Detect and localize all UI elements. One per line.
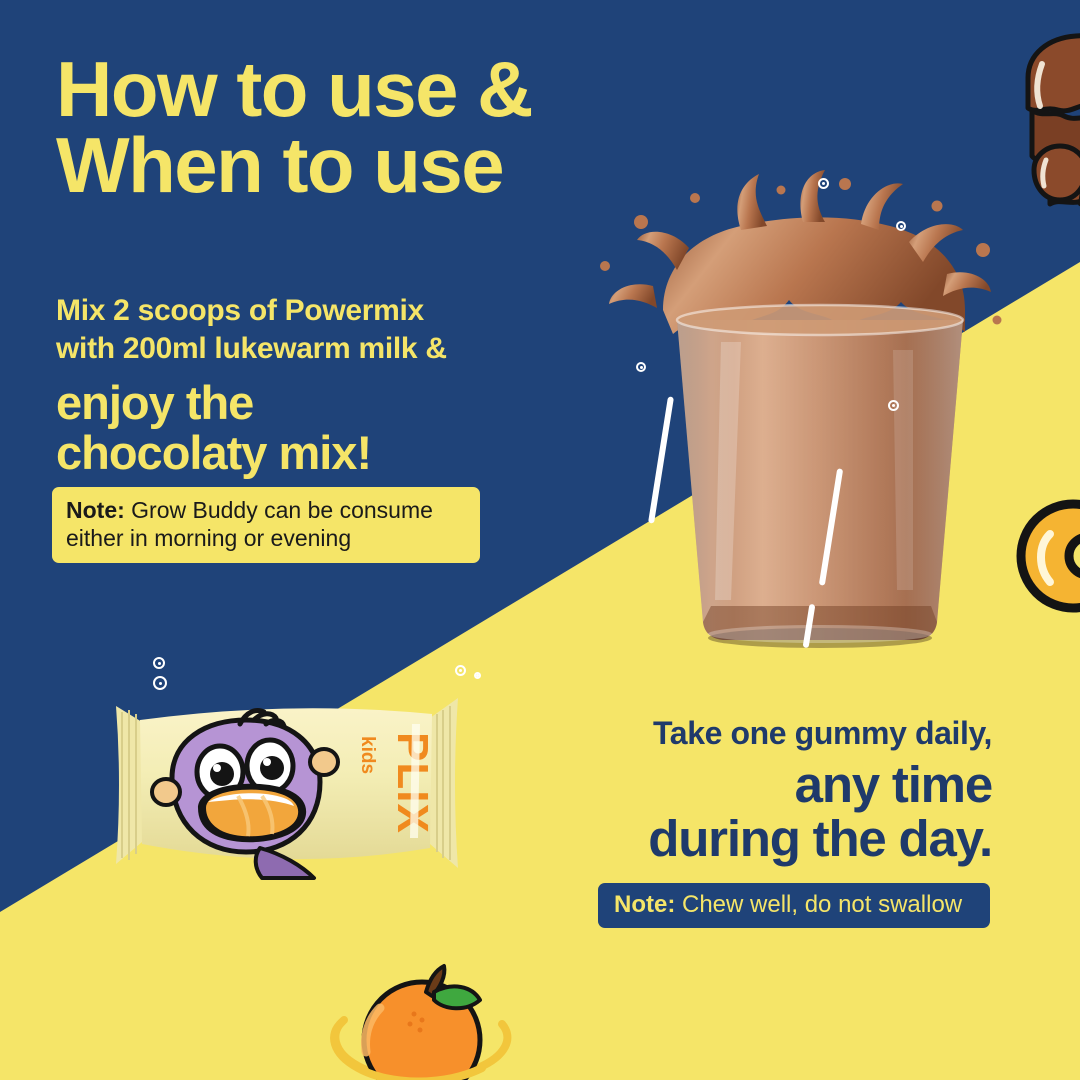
accent-ring xyxy=(896,221,906,231)
orange-fruit-icon xyxy=(322,962,522,1080)
right-note-text: Chew well, do not swallow xyxy=(682,891,962,918)
accent-ring xyxy=(474,672,481,679)
left-note-label: Note: xyxy=(66,497,125,523)
right-instructions: Take one gummy daily, any time during th… xyxy=(432,714,992,866)
left-emphasis-text: enjoy the chocolaty mix! xyxy=(56,378,526,480)
page-title: How to use & When to use xyxy=(56,52,532,203)
accent-ring xyxy=(153,657,165,669)
packet-sub-brand: kids xyxy=(357,736,378,774)
left-instructions: Mix 2 scoops of Powermix with 200ml luke… xyxy=(56,292,526,479)
left-intro-text: Mix 2 scoops of Powermix with 200ml luke… xyxy=(56,292,526,368)
gummy-packet: PLIX kids xyxy=(112,688,462,888)
right-note-label: Note: xyxy=(614,891,675,918)
chocolate-milk-glass xyxy=(545,170,1015,650)
poster-canvas: PLIX kids How to use & When to use Mix 2… xyxy=(0,0,1080,1080)
accent-ring xyxy=(455,665,466,676)
right-note-box: Note: Chew well, do not swallow xyxy=(598,883,990,928)
right-emphasis-text: any time during the day. xyxy=(432,758,992,866)
left-note-box: Note: Grow Buddy can be consume either i… xyxy=(52,487,480,563)
gummy-ring-icon xyxy=(1008,496,1080,616)
accent-ring xyxy=(636,362,646,372)
chocolate-drip-icon xyxy=(1006,18,1080,228)
accent-ring xyxy=(888,400,899,411)
right-intro-text: Take one gummy daily, xyxy=(432,714,992,752)
accent-ring xyxy=(818,178,829,189)
